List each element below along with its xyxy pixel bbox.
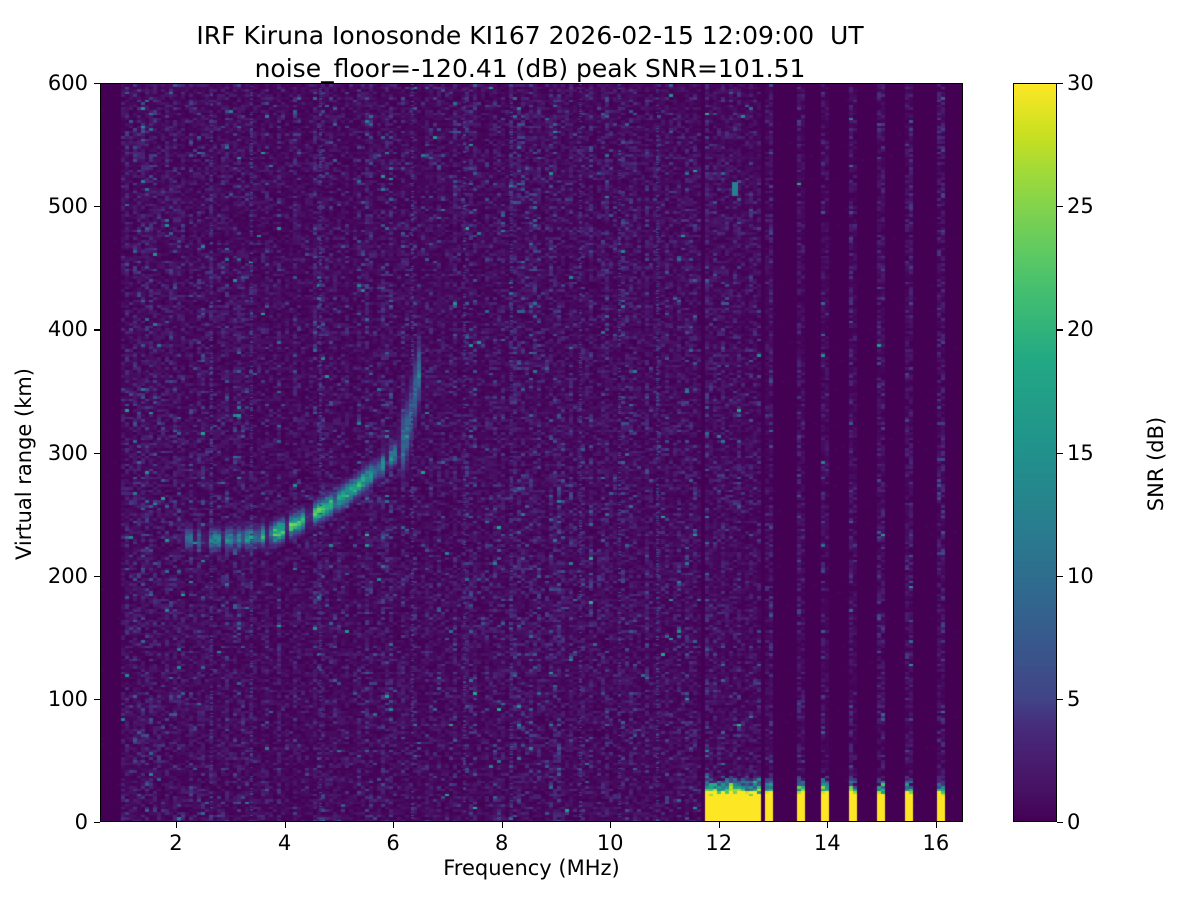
y-tick-mark (94, 453, 100, 454)
x-tick-label: 16 (922, 831, 949, 855)
colorbar-tick-label: 20 (1067, 317, 1094, 341)
x-tick-mark (502, 822, 503, 828)
x-tick-mark (285, 822, 286, 828)
colorbar-tick-mark (1057, 206, 1063, 207)
ionogram-heatmap (101, 84, 962, 821)
y-tick-label: 200 (48, 564, 88, 588)
colorbar-tick-mark (1057, 83, 1063, 84)
y-tick-mark (94, 329, 100, 330)
x-tick-label: 8 (495, 831, 508, 855)
colorbar-tick-label: 30 (1067, 71, 1094, 95)
y-axis-label: Virtual range (km) (12, 304, 36, 624)
colorbar-tick-mark (1057, 576, 1063, 577)
x-tick-label: 6 (386, 831, 399, 855)
y-tick-mark (94, 576, 100, 577)
colorbar-tick-label: 25 (1067, 194, 1094, 218)
y-tick-label: 500 (48, 194, 88, 218)
y-tick-label: 400 (48, 317, 88, 341)
colorbar-gradient (1013, 83, 1057, 822)
colorbar-tick-mark (1057, 699, 1063, 700)
colorbar-tick-mark (1057, 453, 1063, 454)
ionogram-plot-area (100, 83, 963, 822)
x-tick-mark (936, 822, 937, 828)
colorbar-label: SNR (dB) (1144, 314, 1168, 614)
y-tick-mark (94, 206, 100, 207)
figure-title: IRF Kiruna Ionosonde KI167 2026-02-15 12… (0, 20, 1060, 85)
colorbar-tick-label: 0 (1067, 810, 1080, 834)
x-tick-mark (610, 822, 611, 828)
y-tick-label: 600 (48, 71, 88, 95)
colorbar-tick-mark (1057, 822, 1063, 823)
x-tick-mark (393, 822, 394, 828)
x-tick-mark (719, 822, 720, 828)
x-tick-label: 10 (597, 831, 624, 855)
y-tick-label: 300 (48, 441, 88, 465)
colorbar-tick-mark (1057, 329, 1063, 330)
title-line-2: noise_floor=-120.41 (dB) peak SNR=101.51 (0, 53, 1060, 86)
x-axis-label: Frequency (MHz) (100, 856, 963, 880)
x-tick-mark (827, 822, 828, 828)
y-tick-label: 0 (75, 810, 88, 834)
x-tick-label: 2 (169, 831, 182, 855)
x-tick-mark (176, 822, 177, 828)
y-tick-mark (94, 83, 100, 84)
y-tick-label: 100 (48, 687, 88, 711)
title-line-1: IRF Kiruna Ionosonde KI167 2026-02-15 12… (0, 20, 1060, 53)
colorbar-tick-label: 15 (1067, 441, 1094, 465)
colorbar-tick-label: 10 (1067, 564, 1094, 588)
x-tick-label: 12 (705, 831, 732, 855)
colorbar-tick-label: 5 (1067, 687, 1080, 711)
y-tick-mark (94, 822, 100, 823)
x-tick-label: 4 (278, 831, 291, 855)
ionogram-figure: IRF Kiruna Ionosonde KI167 2026-02-15 12… (0, 0, 1200, 900)
y-tick-mark (94, 699, 100, 700)
x-tick-label: 14 (814, 831, 841, 855)
